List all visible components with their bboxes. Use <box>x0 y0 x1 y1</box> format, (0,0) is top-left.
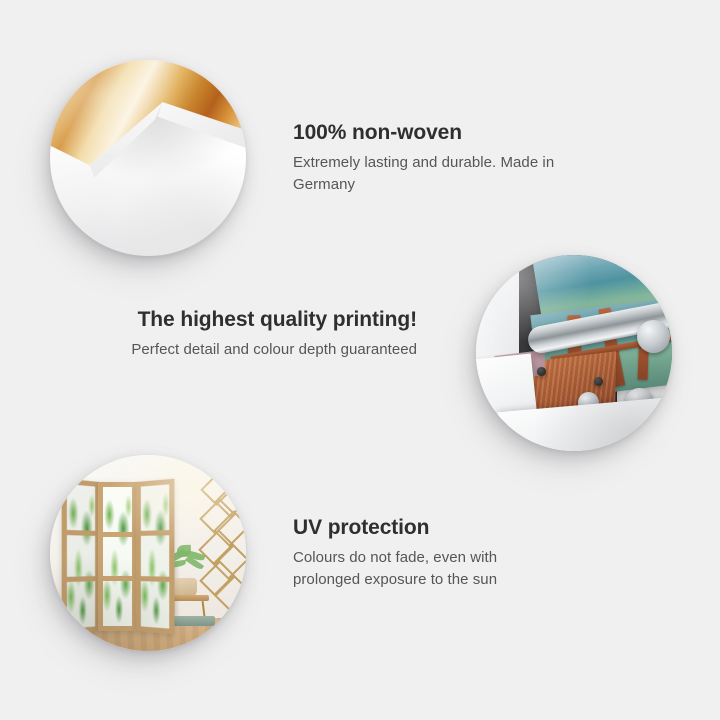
feature-image-uv-protection <box>50 455 246 651</box>
wallpaper-peel-photo <box>50 60 246 256</box>
feature-heading-uv-protection: UV protection <box>293 516 555 540</box>
feature-heading-non-woven: 100% non-woven <box>293 121 603 145</box>
feature-image-non-woven <box>50 60 246 256</box>
printing-press-photo <box>476 255 672 451</box>
feature-body-non-woven: Extremely lasting and durable. Made in G… <box>293 152 603 196</box>
photo-gloss-overlay <box>50 60 246 256</box>
photo-light-overlay <box>476 255 672 451</box>
feature-image-quality-printing <box>476 255 672 451</box>
feature-text-uv-protection: UV protection Colours do not fade, even … <box>293 516 555 591</box>
feature-text-quality-printing: The highest quality printing! Perfect de… <box>107 308 417 361</box>
feature-text-non-woven: 100% non-woven Extremely lasting and dur… <box>293 121 603 196</box>
feature-heading-quality-printing: The highest quality printing! <box>107 308 417 332</box>
feature-body-uv-protection: Colours do not fade, even with prolonged… <box>293 547 555 591</box>
interior-room-divider-photo <box>50 455 246 651</box>
feature-collage: 100% non-woven Extremely lasting and dur… <box>0 0 720 720</box>
photo-light-overlay <box>50 455 246 651</box>
feature-body-quality-printing: Perfect detail and colour depth guarante… <box>107 339 417 361</box>
